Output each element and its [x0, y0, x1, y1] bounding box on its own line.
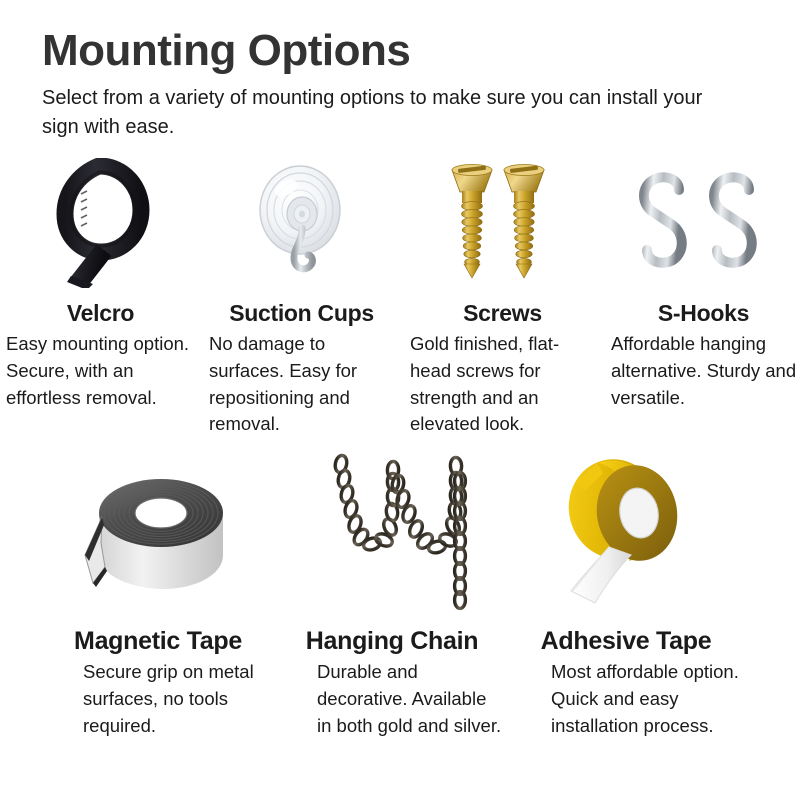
option-title: Suction Cups	[229, 300, 374, 327]
option-card-suction-cups: Suction Cups No damage to surfaces. Easy…	[201, 158, 402, 438]
option-description: Easy mounting option. Secure, with an ef…	[0, 331, 201, 411]
option-description: No damage to surfaces. Easy for repositi…	[201, 331, 402, 438]
magnetic-tape-roll-figure	[41, 448, 275, 613]
option-card-velcro: Velcro Easy mounting option. Secure, wit…	[0, 158, 201, 438]
option-card-adhesive-tape: Adhesive Tape Most affordable option. Qu…	[509, 448, 743, 739]
option-description: Affordable hanging alternative. Sturdy a…	[603, 331, 804, 411]
velcro-strap-icon	[41, 158, 161, 288]
option-title: S-Hooks	[658, 300, 749, 327]
header: Mounting Options Select from a variety o…	[42, 28, 762, 141]
option-title: Hanging Chain	[306, 627, 478, 656]
options-row-one: Velcro Easy mounting option. Secure, wit…	[0, 158, 804, 438]
option-description: Durable and decorative. Available in bot…	[275, 659, 509, 739]
option-title: Magnetic Tape	[74, 627, 242, 656]
option-card-hanging-chain: Hanging Chain Durable and decorative. Av…	[275, 448, 509, 739]
flat-head-screws-figure	[402, 158, 603, 288]
option-card-magnetic-tape: Magnetic Tape Secure grip on metal surfa…	[41, 448, 275, 739]
s-hooks-icon	[629, 158, 779, 288]
suction-cup-hook-icon	[242, 158, 362, 288]
adhesive-tape-roll-figure	[509, 448, 743, 613]
option-title: Screws	[463, 300, 542, 327]
options-row-two: Magnetic Tape Secure grip on metal surfa…	[0, 448, 804, 739]
option-description: Secure grip on metal surfaces, no tools …	[41, 659, 275, 739]
page-subtitle: Select from a variety of mounting option…	[42, 84, 722, 141]
page-title: Mounting Options	[42, 28, 762, 74]
suction-cup-hook-figure	[201, 158, 402, 288]
option-card-screws: Screws Gold finished, flat-head screws f…	[402, 158, 603, 438]
option-title: Adhesive Tape	[541, 627, 712, 656]
hanging-chain-icon	[310, 448, 475, 613]
mounting-options-infographic: Mounting Options Select from a variety o…	[0, 0, 804, 804]
option-description: Gold finished, flat-head screws for stre…	[402, 331, 603, 438]
flat-head-screws-icon	[440, 158, 565, 288]
option-card-s-hooks: S-Hooks Affordable hanging alternative. …	[603, 158, 804, 438]
hanging-chain-figure	[275, 448, 509, 613]
option-title: Velcro	[67, 300, 134, 327]
s-hooks-figure	[603, 158, 804, 288]
option-description: Most affordable option. Quick and easy i…	[509, 659, 743, 739]
velcro-strap-figure	[0, 158, 201, 288]
magnetic-tape-roll-icon	[71, 451, 246, 611]
adhesive-tape-roll-icon	[541, 451, 711, 611]
